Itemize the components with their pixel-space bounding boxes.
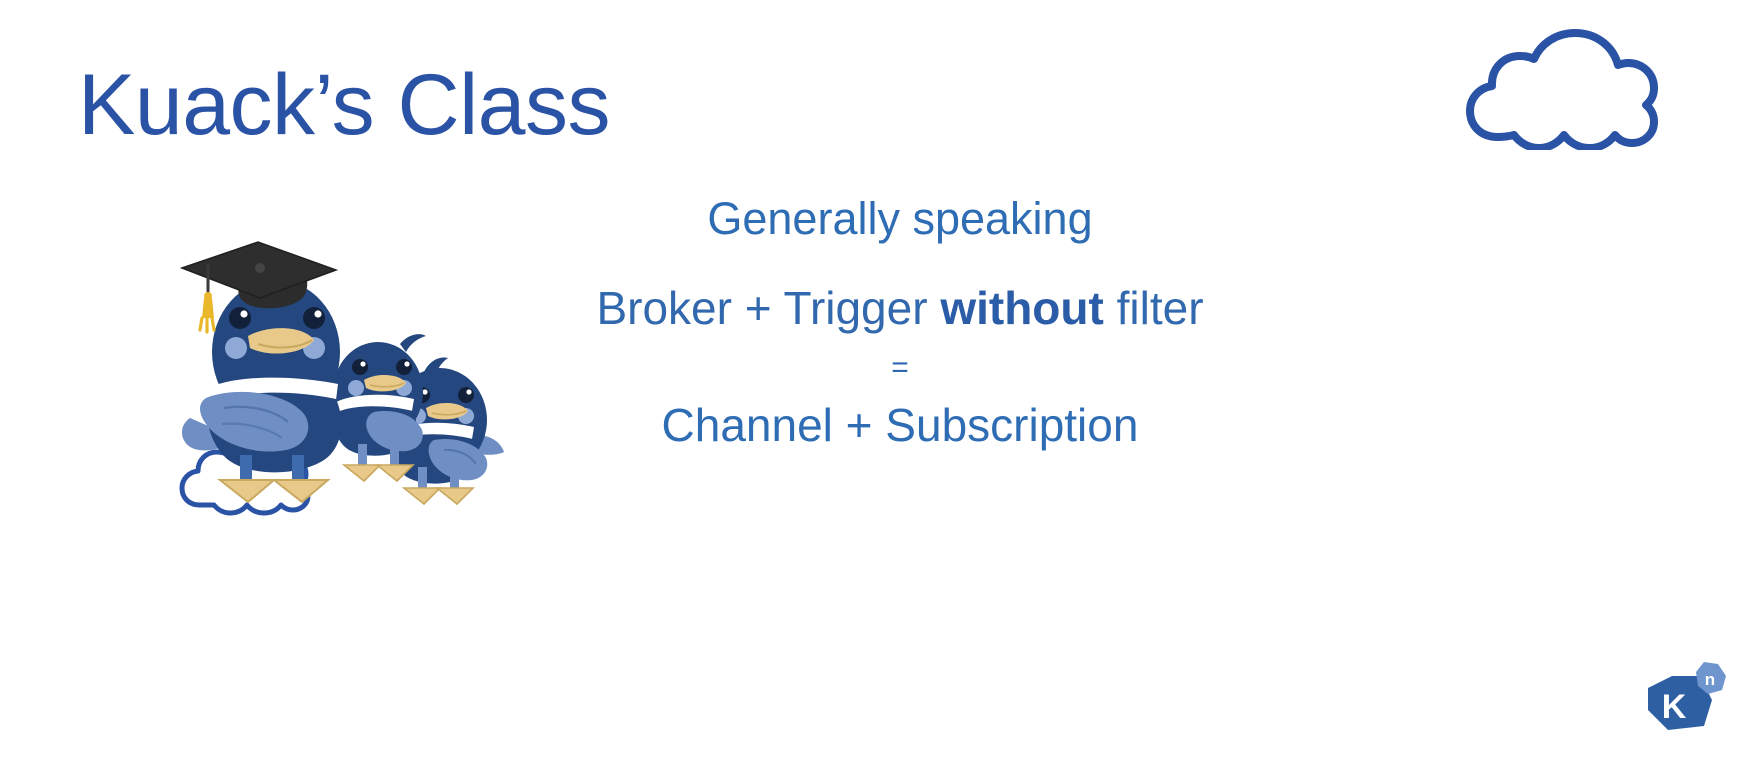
text-line-channel-subscription: Channel + Subscription bbox=[560, 402, 1240, 448]
kuack-birds-illustration bbox=[178, 240, 518, 530]
page-title: Kuack’s Class bbox=[78, 60, 610, 150]
body-text-block: Generally speaking Broker + Trigger with… bbox=[560, 196, 1240, 448]
text-line-broker-trigger: Broker + Trigger without filter bbox=[560, 285, 1240, 331]
text-filter-suffix: filter bbox=[1104, 282, 1204, 334]
knative-logo: K n bbox=[1638, 660, 1730, 746]
cloud-outline-icon bbox=[1462, 25, 1662, 150]
text-line-equals: = bbox=[560, 351, 1240, 384]
slide-canvas: Kuack’s Class bbox=[0, 0, 1742, 762]
knative-logo-letter-n: n bbox=[1705, 670, 1715, 689]
knative-logo-letter-k: K bbox=[1662, 688, 1687, 726]
text-without-bold: without bbox=[940, 282, 1104, 334]
text-line-generally-speaking: Generally speaking bbox=[560, 196, 1240, 241]
text-broker-prefix: Broker + Trigger bbox=[596, 282, 940, 334]
